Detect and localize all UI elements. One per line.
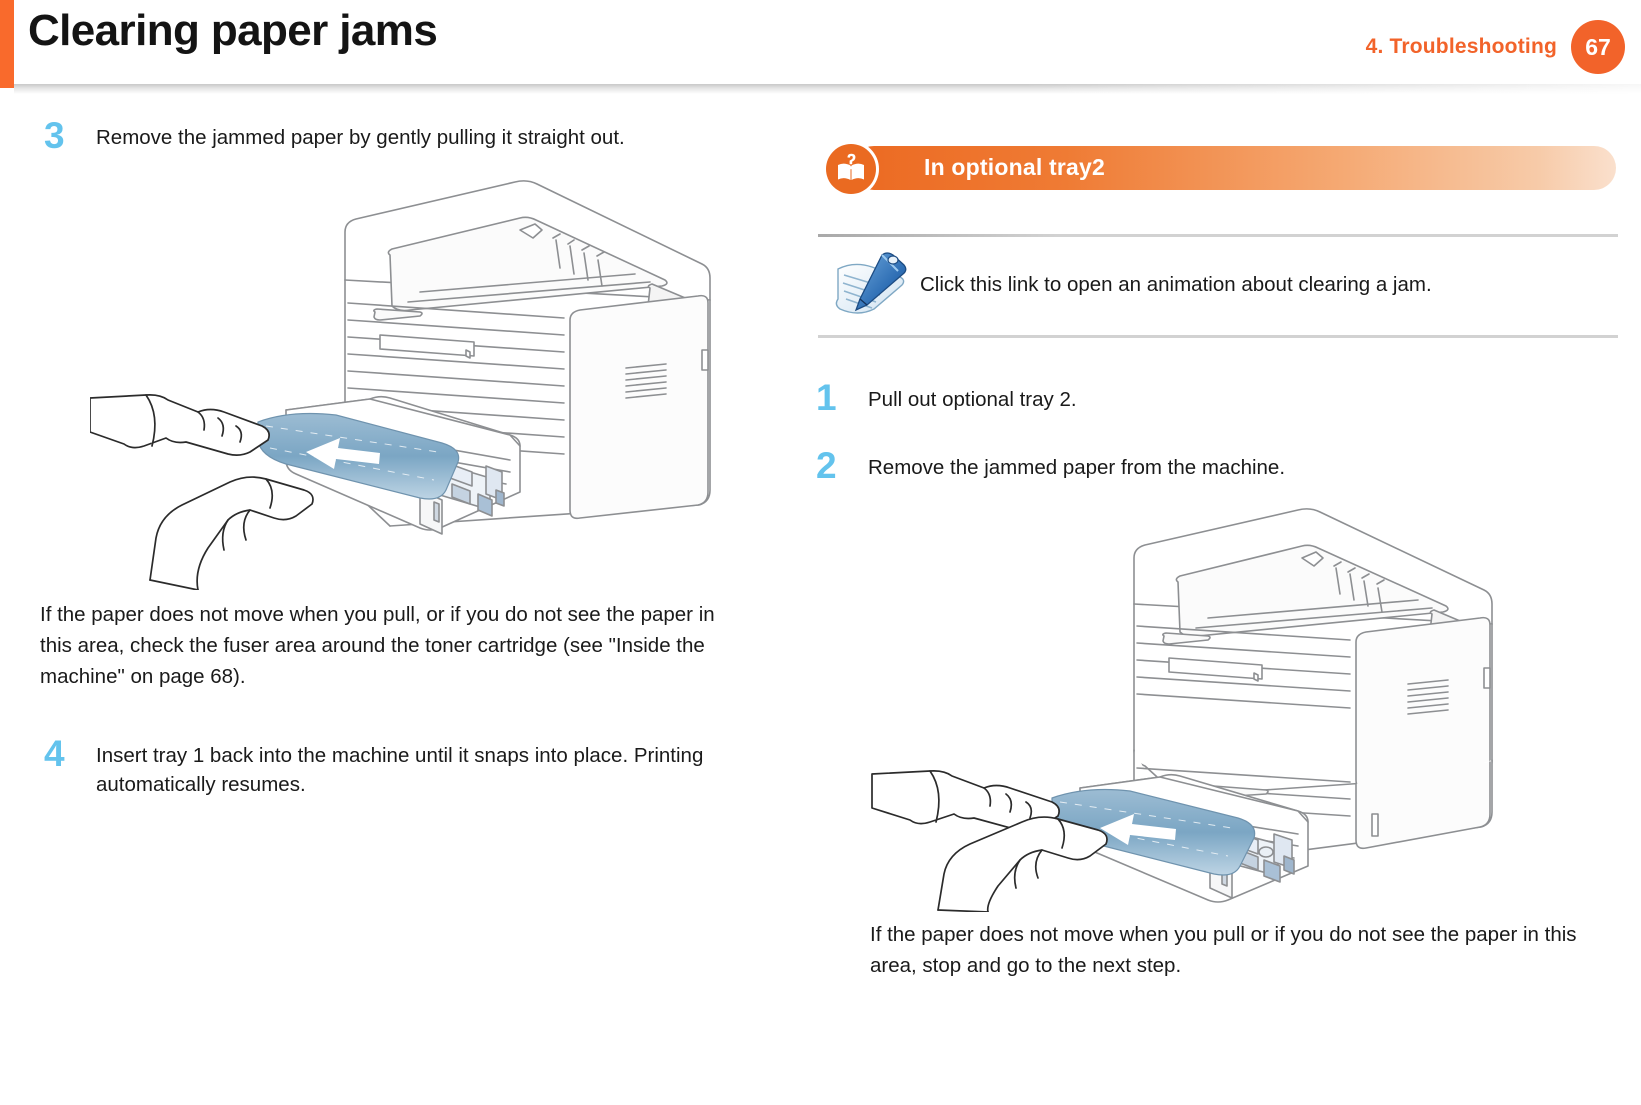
- note-text[interactable]: Click this link to open an animation abo…: [920, 270, 1432, 299]
- header-accent-bar: [0, 0, 14, 88]
- page-number-badge: 67: [1571, 20, 1625, 74]
- step-number: 2: [812, 448, 868, 484]
- step-4: 4 Insert tray 1 back into the machine un…: [40, 736, 795, 799]
- step-3: 3 Remove the jammed paper by gently pull…: [40, 118, 795, 154]
- step-number: 4: [40, 736, 96, 772]
- section-banner-in-optional-tray2: In optional tray2: [826, 144, 1602, 192]
- section-label: 4. Troubleshooting: [1366, 35, 1557, 59]
- step-number: 3: [40, 118, 96, 154]
- book-question-icon: [826, 144, 876, 194]
- header-meta: 4. Troubleshooting 67: [1366, 20, 1625, 74]
- step-text: Remove the jammed paper by gently pullin…: [96, 118, 625, 152]
- right-column: In optional tray2: [812, 118, 1602, 981]
- right-closing-paragraph: If the paper does not move when you pull…: [870, 919, 1590, 981]
- step-2: 2 Remove the jammed paper from the machi…: [812, 448, 1602, 484]
- step-text: Pull out optional tray 2.: [868, 380, 1077, 414]
- banner-label: In optional tray2: [924, 154, 1105, 181]
- page-header: Clearing paper jams 4. Troubleshooting 6…: [0, 0, 1641, 92]
- step-text: Remove the jammed paper from the machine…: [868, 448, 1285, 482]
- page-title: Clearing paper jams: [28, 6, 437, 56]
- left-column: 3 Remove the jammed paper by gently pull…: [40, 118, 795, 803]
- pencil-note-icon: [824, 247, 920, 321]
- step-number: 1: [812, 380, 868, 416]
- header-divider: [14, 84, 1641, 94]
- note-box: Click this link to open an animation abo…: [818, 234, 1618, 338]
- printer-tray2-illustration: [866, 492, 1602, 917]
- step-text: Insert tray 1 back into the machine unti…: [96, 736, 756, 799]
- left-note-paragraph: If the paper does not move when you pull…: [40, 599, 730, 692]
- printer-tray1-illustration: [90, 160, 795, 595]
- step-1: 1 Pull out optional tray 2.: [812, 380, 1602, 416]
